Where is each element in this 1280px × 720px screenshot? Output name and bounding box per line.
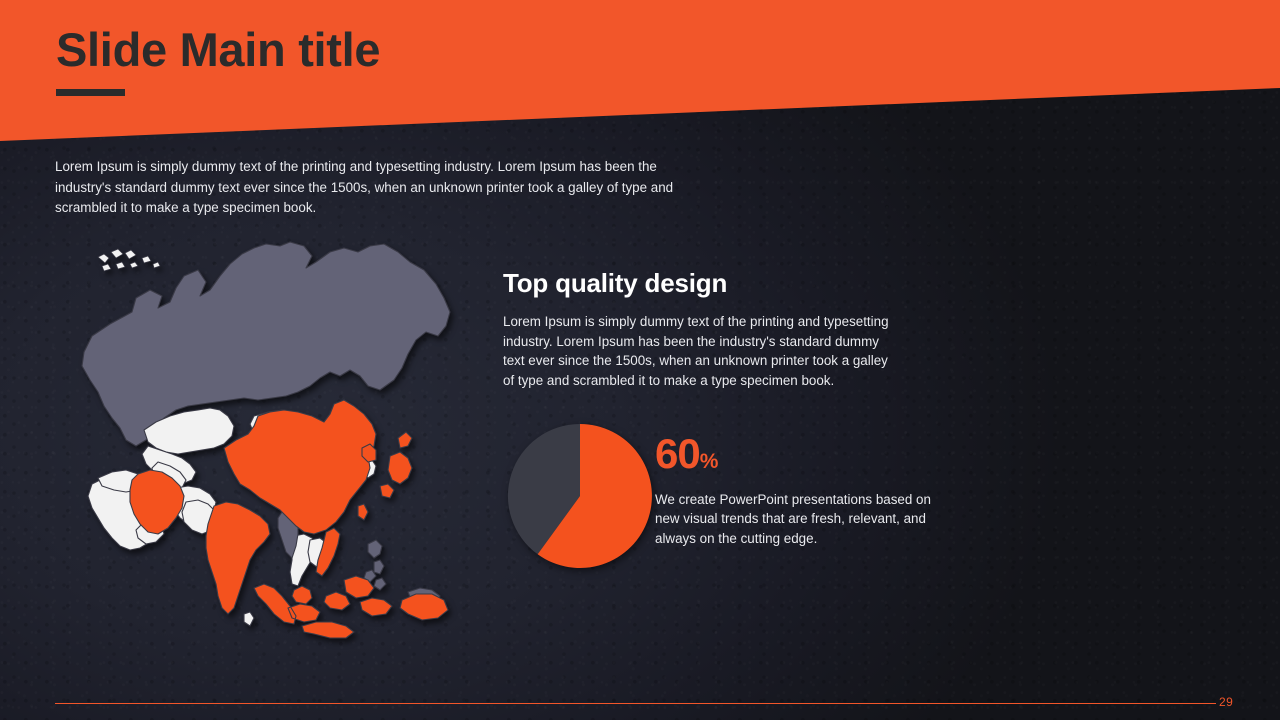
stat-value-row: 60%	[655, 433, 945, 475]
stat-block: 60% We create PowerPoint presentations b…	[655, 433, 945, 548]
page-title: Slide Main title	[56, 26, 380, 73]
percentage-pie-chart[interactable]	[507, 423, 653, 569]
map-region-japan	[380, 432, 412, 498]
page-number: 29	[1219, 695, 1233, 709]
section-heading: Top quality design	[503, 268, 727, 299]
intro-paragraph: Lorem Ipsum is simply dummy text of the …	[55, 157, 705, 219]
map-region-taiwan	[358, 504, 368, 520]
map-region-sri-lanka	[244, 612, 254, 626]
map-region-arctic-islets	[98, 249, 160, 271]
slide-canvas: Slide Main title Lorem Ipsum is simply d…	[0, 0, 1280, 720]
stat-number: 60	[655, 430, 700, 477]
title-underline-accent	[56, 89, 125, 96]
section-paragraph: Lorem Ipsum is simply dummy text of the …	[503, 312, 893, 390]
stat-unit: %	[700, 450, 719, 473]
asia-map[interactable]	[58, 240, 458, 650]
stat-description: We create PowerPoint presentations based…	[655, 490, 945, 548]
footer-divider	[55, 703, 1216, 704]
